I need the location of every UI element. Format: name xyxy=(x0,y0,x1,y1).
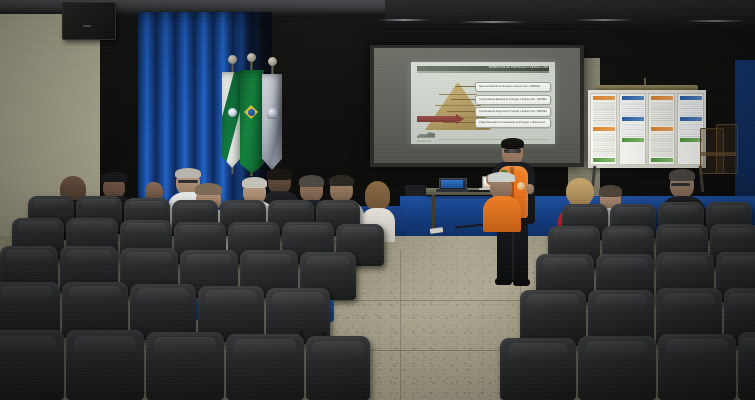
presenter-shoe xyxy=(513,279,530,286)
presenter-hand xyxy=(526,184,534,194)
ceiling-light-rail xyxy=(378,19,430,21)
hair xyxy=(329,175,354,186)
chair[interactable] xyxy=(0,330,64,400)
loudspeaker-icon xyxy=(62,2,116,40)
poster-band-orange xyxy=(593,127,615,131)
brazil-flag-globe xyxy=(248,109,255,116)
hair xyxy=(365,181,390,209)
slide-footer-rule xyxy=(439,139,549,140)
hair xyxy=(566,178,594,204)
poster-table-grid xyxy=(680,102,702,116)
pyramid-level-label: Coordenadoria Regional de Proteção e Def… xyxy=(476,111,547,113)
poster-sheet-3 xyxy=(648,93,675,165)
poster-band-green xyxy=(622,138,644,142)
poster-band-blue xyxy=(680,117,702,121)
pyramid-level-box: Coordenadoria Regional de Proteção e Def… xyxy=(475,107,551,117)
cap-icon xyxy=(101,172,128,182)
orange-vest xyxy=(483,196,521,232)
presenter-shoe xyxy=(495,278,512,285)
poster-table-grid xyxy=(622,123,644,137)
brazil-national-flag xyxy=(240,70,264,174)
hair xyxy=(242,177,267,188)
poster-text-rows xyxy=(651,102,673,126)
hair xyxy=(175,168,201,178)
equipment-bag xyxy=(405,185,427,196)
laptop-left-base xyxy=(436,189,468,192)
poster-band-blue xyxy=(622,96,644,100)
floor-seam xyxy=(400,250,401,400)
municipal-flag xyxy=(262,74,282,170)
presenter-hair xyxy=(501,138,524,149)
pyramid-divider xyxy=(435,105,481,106)
slide-title: ESTRUTURA DE PROTEÇÃO E DEFESA CIVIL xyxy=(489,66,549,69)
poster-text-rows xyxy=(593,102,615,126)
pyramid-connector xyxy=(455,86,477,87)
cable xyxy=(468,190,490,192)
chair[interactable] xyxy=(306,336,370,400)
ceiling-light-rail xyxy=(685,20,745,22)
poster-band-orange xyxy=(651,96,673,100)
cap-icon xyxy=(488,172,515,182)
chair[interactable] xyxy=(658,334,736,400)
poster-text-rows xyxy=(651,133,673,157)
parana-state-flag xyxy=(222,72,242,168)
ceiling-light-rail xyxy=(575,19,633,21)
poster-band-green xyxy=(680,138,702,142)
slide-header-underline xyxy=(417,71,549,73)
chair[interactable] xyxy=(500,338,576,400)
glasses-icon xyxy=(504,149,521,153)
glasses-icon xyxy=(671,183,690,186)
municipal-flag-crest xyxy=(267,108,277,119)
pyramid-level-label: Sistema Nacional de Proteção e Defesa Ci… xyxy=(476,86,540,88)
poster-band-orange xyxy=(651,127,673,131)
hair xyxy=(599,185,622,197)
ceiling-light-rail xyxy=(460,21,526,23)
pyramid-divider xyxy=(439,94,477,95)
trouser-crease xyxy=(512,232,514,280)
chair[interactable] xyxy=(146,332,224,400)
presentation-slide: ESTRUTURA DE PROTEÇÃO E DEFESA CIVIL Sis… xyxy=(411,62,555,144)
poster-table-grid xyxy=(622,102,644,116)
poster-band-green xyxy=(651,158,673,162)
table-leg xyxy=(432,195,435,231)
poster-band-green xyxy=(593,158,615,162)
chair[interactable] xyxy=(226,334,304,400)
organization-logo-icon xyxy=(417,131,435,140)
pyramid-connector xyxy=(451,99,477,100)
hair xyxy=(267,168,292,180)
hair xyxy=(299,175,324,187)
pyramid-level-box: Coordenadoria Estadual de Proteção e Def… xyxy=(475,95,551,105)
poster-band-orange xyxy=(593,96,615,100)
stacked-chair-seat xyxy=(700,152,736,156)
pyramid-level-label: Órgão Municipal de Coordenação de Proteç… xyxy=(476,122,545,124)
chair[interactable] xyxy=(578,336,656,400)
hair xyxy=(195,183,222,195)
pyramid-level-label: Coordenadoria Estadual de Proteção e Def… xyxy=(476,99,547,101)
auditorium-photo: ESTRUTURA DE PROTEÇÃO E DEFESA CIVIL Sis… xyxy=(0,0,755,400)
laptop-left-screen xyxy=(441,180,463,188)
slide-logo-text: DEFESA CIVIL xyxy=(417,141,432,143)
pyramid-connector xyxy=(447,111,477,112)
ceiling-dark-panel xyxy=(385,0,755,30)
chair[interactable] xyxy=(738,332,755,400)
poster-stand xyxy=(588,90,706,168)
pyramid-level-box: Sistema Nacional de Proteção e Defesa Ci… xyxy=(475,82,551,92)
hair xyxy=(669,169,695,181)
parana-flag-disc xyxy=(228,108,237,117)
poster-sheet-1 xyxy=(590,93,617,165)
stacked-wooden-chair xyxy=(716,124,738,174)
chair[interactable] xyxy=(66,330,144,400)
poster-band-blue xyxy=(680,96,702,100)
glasses-icon xyxy=(178,180,198,183)
highlight-arrow-icon xyxy=(417,116,457,122)
poster-text-rows xyxy=(593,133,615,157)
poster-band-blue xyxy=(622,117,644,121)
poster-table-grid xyxy=(680,123,702,137)
pyramid-level-box: Órgão Municipal de Coordenação de Proteç… xyxy=(475,118,551,128)
vest-emblem xyxy=(517,182,525,190)
poster-sheet-2 xyxy=(619,93,646,165)
